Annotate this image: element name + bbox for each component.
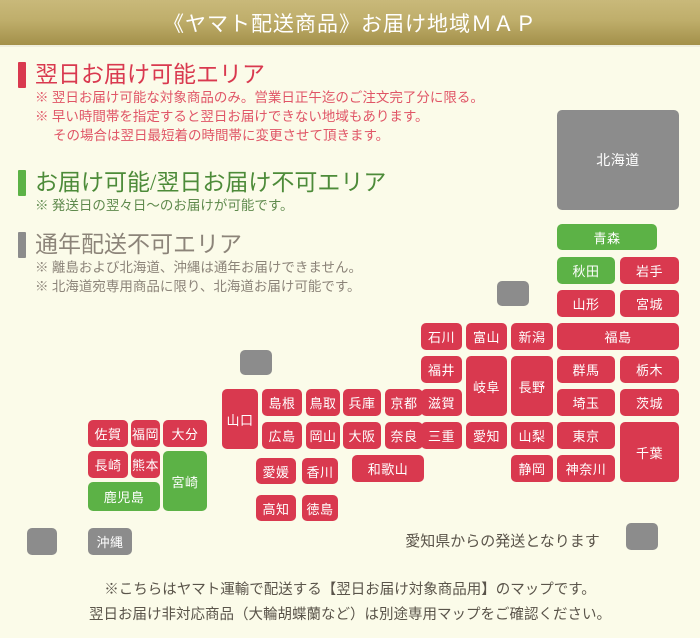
pref-tile-富山: 富山 [466, 323, 507, 350]
island-tile [497, 281, 529, 306]
pref-tile-群馬: 群馬 [557, 356, 615, 383]
footer-note: ※こちらはヤマト運輸で配送する【翌日お届け対象商品用】のマップです。 翌日お届け… [0, 578, 700, 628]
pref-tile-山形: 山形 [557, 290, 615, 317]
pref-tile-愛媛: 愛媛 [256, 458, 296, 484]
island-tile [626, 523, 658, 550]
pref-tile-奈良: 奈良 [385, 422, 423, 449]
pref-tile-香川: 香川 [302, 458, 338, 484]
pref-tile-福岡: 福岡 [131, 420, 160, 447]
pref-tile-熊本: 熊本 [131, 451, 160, 478]
pref-tile-沖縄: 沖縄 [88, 528, 132, 555]
pref-tile-京都: 京都 [385, 389, 423, 416]
pref-tile-静岡: 静岡 [511, 455, 553, 482]
shipping-origin-note: 愛知県からの発送となります [395, 528, 610, 552]
pref-tile-長崎: 長崎 [88, 451, 128, 478]
pref-tile-千葉: 千葉 [620, 422, 679, 482]
island-tile [27, 528, 57, 555]
pref-tile-茨城: 茨城 [620, 389, 679, 416]
pref-tile-和歌山: 和歌山 [352, 455, 424, 482]
pref-tile-石川: 石川 [421, 323, 462, 350]
pref-tile-島根: 島根 [262, 389, 302, 416]
pref-tile-岐阜: 岐阜 [466, 356, 507, 416]
pref-tile-滋賀: 滋賀 [421, 389, 462, 416]
pref-tile-三重: 三重 [421, 422, 462, 449]
pref-tile-山梨: 山梨 [511, 422, 553, 449]
pref-tile-佐賀: 佐賀 [88, 420, 128, 447]
pref-tile-大阪: 大阪 [343, 422, 381, 449]
island-tile [240, 350, 272, 375]
pref-tile-大分: 大分 [163, 420, 207, 447]
pref-tile-新潟: 新潟 [511, 323, 553, 350]
pref-tile-埼玉: 埼玉 [557, 389, 615, 416]
pref-tile-兵庫: 兵庫 [343, 389, 381, 416]
pref-tile-青森: 青森 [557, 224, 657, 250]
pref-tile-岡山: 岡山 [306, 422, 340, 449]
pref-tile-愛知: 愛知 [466, 422, 507, 449]
pref-tile-宮崎: 宮崎 [163, 451, 207, 511]
pref-tile-徳島: 徳島 [302, 495, 338, 521]
footer-line-2: 翌日お届け非対応商品（大輪胡蝶蘭など）は別途専用マップをご確認ください。 [0, 603, 700, 628]
pref-tile-鳥取: 鳥取 [306, 389, 340, 416]
pref-tile-岩手: 岩手 [620, 257, 679, 284]
pref-tile-東京: 東京 [557, 422, 615, 449]
pref-tile-広島: 広島 [262, 422, 302, 449]
pref-tile-宮城: 宮城 [620, 290, 679, 317]
footer-line-1: ※こちらはヤマト運輸で配送する【翌日お届け対象商品用】のマップです。 [0, 578, 700, 603]
pref-tile-長野: 長野 [511, 356, 553, 416]
pref-tile-高知: 高知 [256, 495, 296, 521]
pref-tile-北海道: 北海道 [557, 110, 679, 210]
pref-tile-秋田: 秋田 [557, 257, 615, 284]
pref-tile-栃木: 栃木 [620, 356, 679, 383]
pref-tile-福島: 福島 [557, 323, 679, 350]
pref-tile-神奈川: 神奈川 [557, 455, 615, 482]
pref-tile-山口: 山口 [222, 389, 258, 449]
pref-tile-福井: 福井 [421, 356, 462, 383]
pref-tile-鹿児島: 鹿児島 [88, 482, 160, 511]
